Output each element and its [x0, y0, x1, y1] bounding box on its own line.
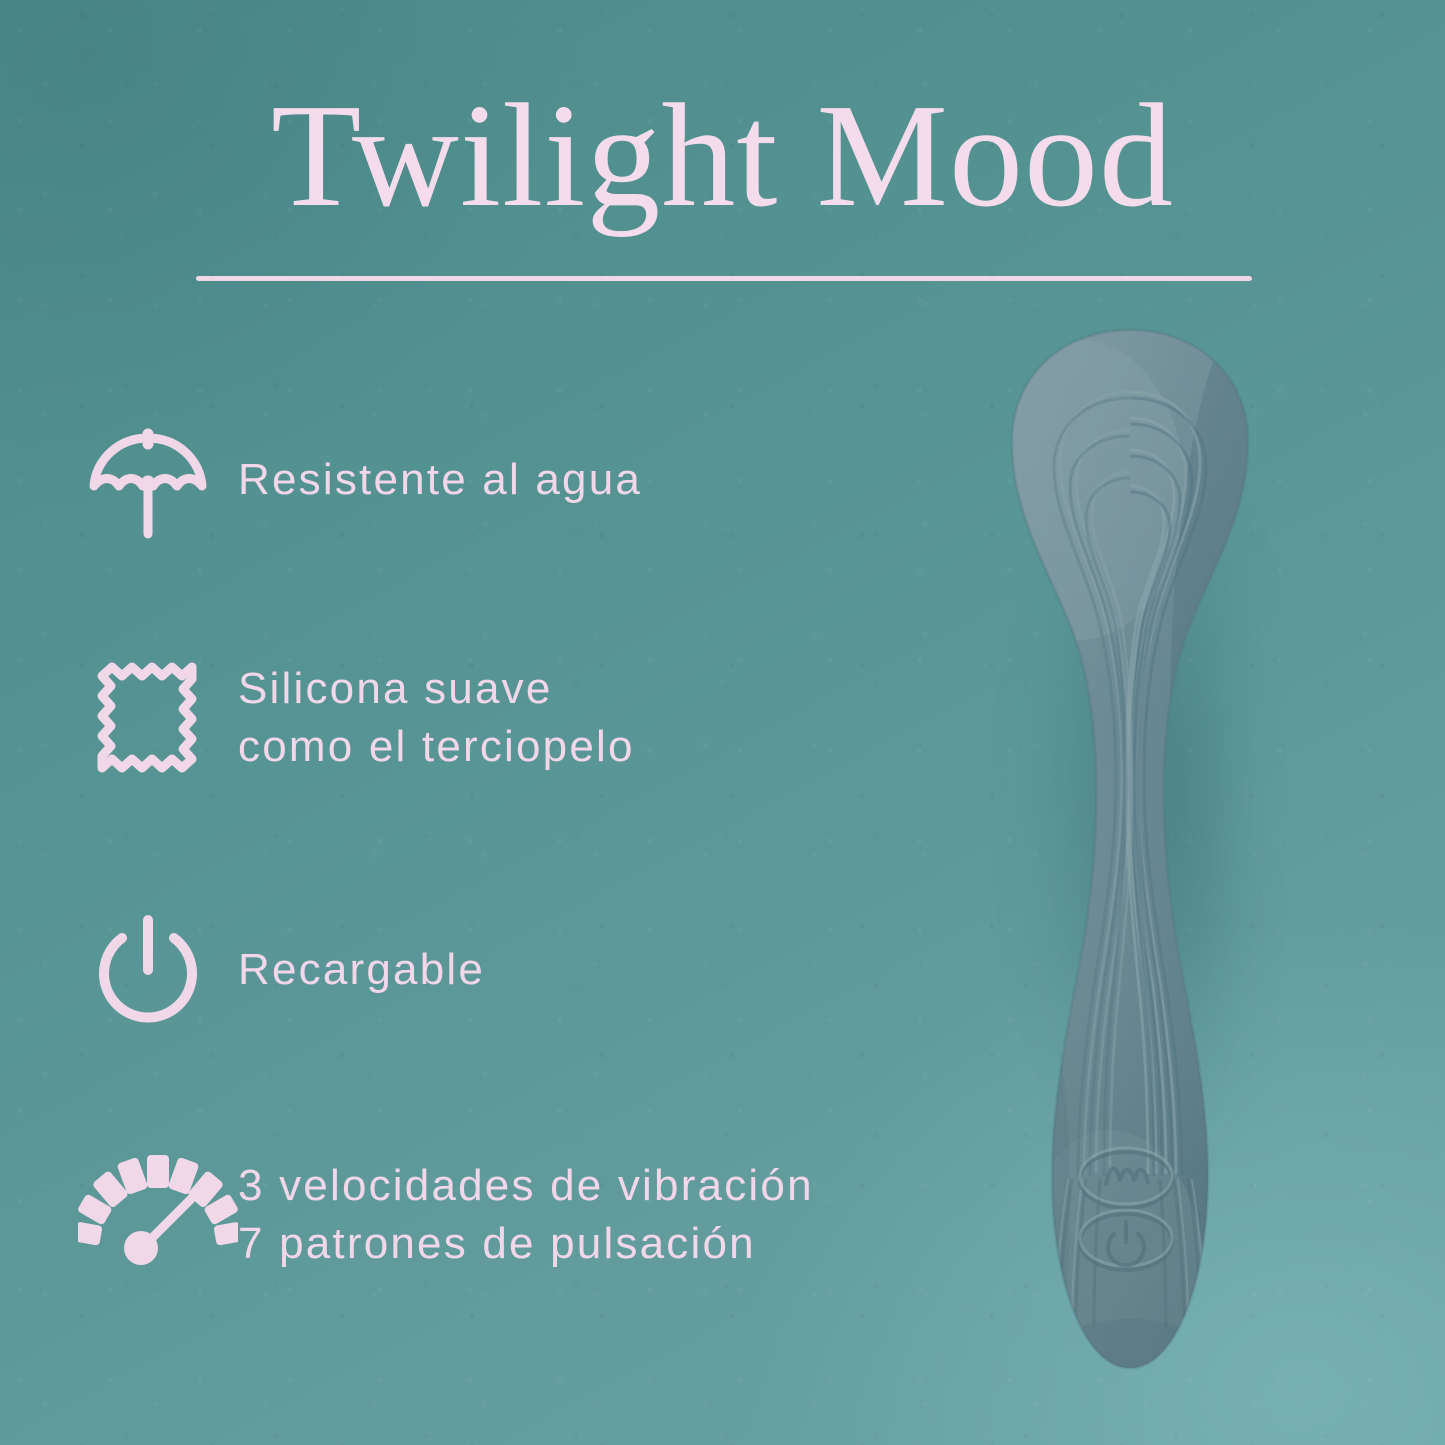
fabric-swatch-icon [78, 648, 238, 788]
product-feature-card: Twilight Mood Resistente al agua [0, 0, 1445, 1445]
page-title: Twilight Mood [0, 78, 1445, 235]
feature-label: Silicona suave como el terciopelo [238, 660, 635, 776]
feature-item-soft-silicone: Silicona suave como el terciopelo [78, 648, 635, 788]
title-divider [196, 276, 1252, 281]
power-icon [78, 900, 238, 1040]
product-image [960, 300, 1300, 1420]
umbrella-icon [78, 410, 238, 550]
feature-label: 3 velocidades de vibración 7 patrones de… [238, 1157, 814, 1273]
feature-label: Recargable [238, 941, 485, 999]
speedometer-icon [78, 1150, 238, 1280]
feature-item-speeds-patterns: 3 velocidades de vibración 7 patrones de… [78, 1150, 814, 1280]
feature-item-waterproof: Resistente al agua [78, 410, 642, 550]
feature-item-rechargeable: Recargable [78, 900, 485, 1040]
feature-label: Resistente al agua [238, 451, 642, 509]
